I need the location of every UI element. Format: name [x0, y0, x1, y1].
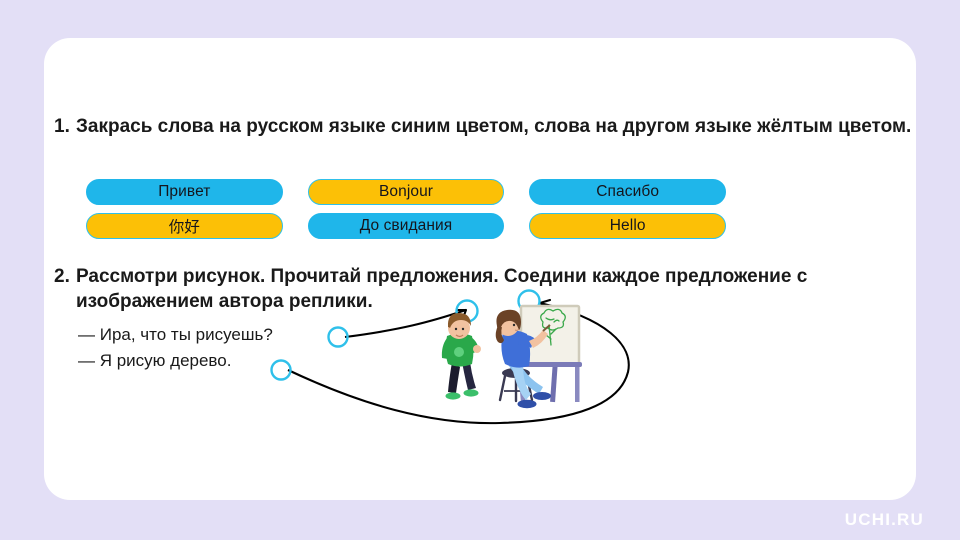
word-pill-spasibo[interactable]: Спасибо: [529, 179, 726, 205]
word-pill-bonjour[interactable]: Bonjour: [308, 179, 505, 205]
slide-background: 1. Закрась слова на русском языке синим …: [0, 0, 960, 540]
word-pill-row-1: Привет Bonjour Спасибо: [86, 179, 726, 205]
watermark-uchi-ru: UCHI.RU: [845, 510, 924, 530]
dialogue-block: — Ира, что ты рисуешь? — Я рисую дерево.: [78, 322, 273, 374]
word-pill-dosvidaniya[interactable]: До свидания: [308, 213, 505, 239]
word-pill-nihao[interactable]: 你好: [86, 213, 283, 239]
task-2-text: Рассмотри рисунок. Прочитай предложения.…: [76, 264, 884, 315]
dialogue-line-1[interactable]: — Ира, что ты рисуешь?: [78, 322, 273, 348]
word-pill-hello[interactable]: Hello: [529, 213, 726, 239]
word-pill-privet[interactable]: Привет: [86, 179, 283, 205]
task-1: 1. Закрась слова на русском языке синим …: [54, 114, 914, 139]
task-1-text: Закрась слова на русском языке синим цве…: [76, 114, 911, 139]
task-2: 2. Рассмотри рисунок. Прочитай предложен…: [54, 264, 884, 315]
task-1-number: 1.: [54, 114, 76, 139]
task-2-number: 2.: [54, 264, 76, 289]
dialogue-line-2[interactable]: — Я рисую дерево.: [78, 348, 273, 374]
word-pill-row-2: 你好 До свидания Hello: [86, 213, 726, 239]
word-pill-grid: Привет Bonjour Спасибо 你好 До свидания He…: [86, 179, 726, 247]
